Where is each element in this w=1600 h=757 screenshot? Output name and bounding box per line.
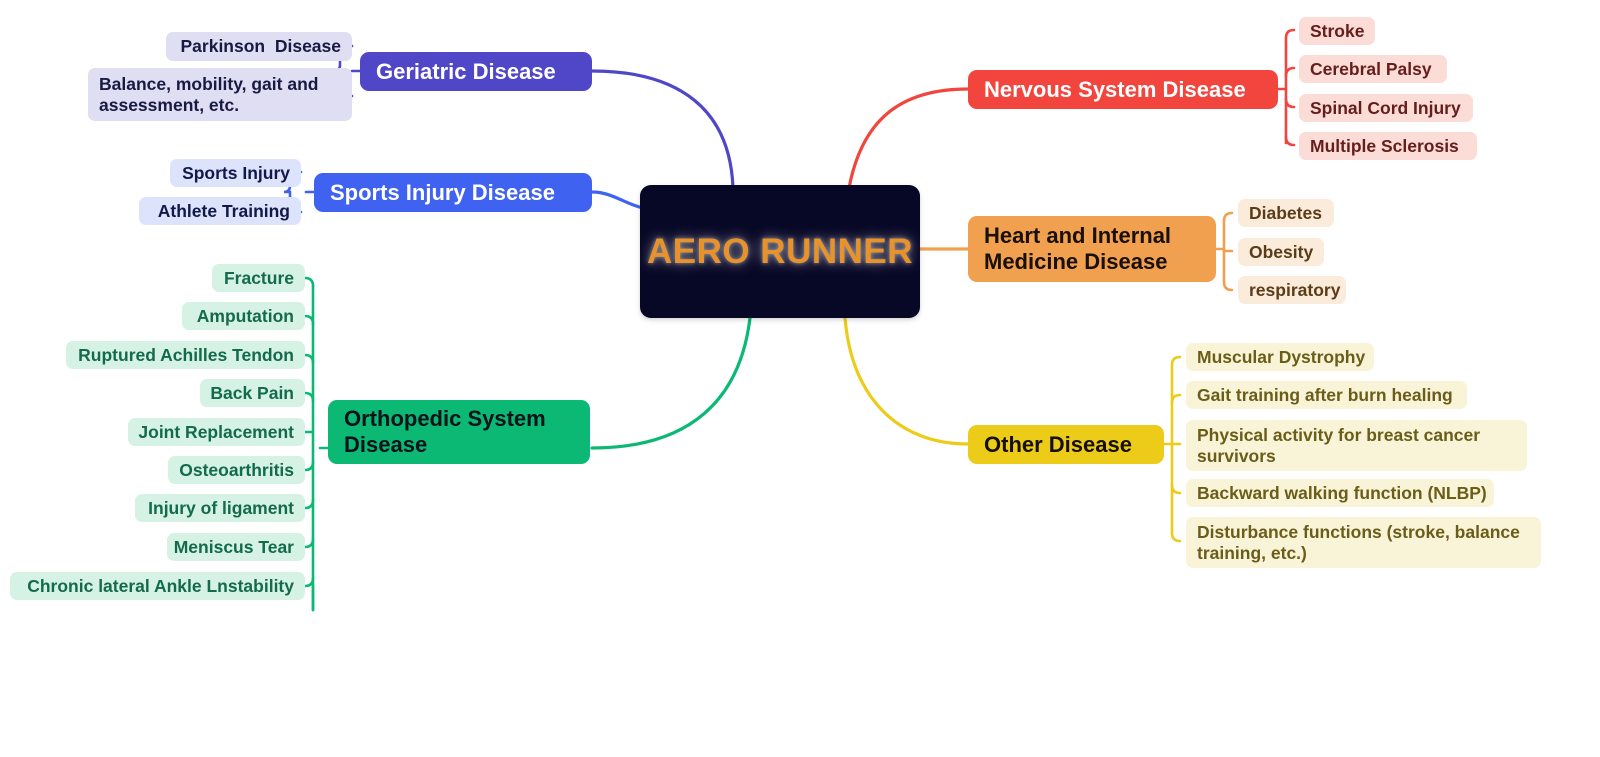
- leaf-label: Back Pain: [210, 383, 294, 404]
- leaf-label: Chronic lateral Ankle Lnstability: [27, 576, 294, 597]
- leaf-injury-of-ligament[interactable]: Injury of ligament: [135, 494, 305, 522]
- leaf-label: Muscular Dystrophy: [1197, 347, 1365, 368]
- branch-nervous-system[interactable]: Nervous System Disease: [968, 70, 1278, 109]
- leaf-label: Injury of ligament: [148, 498, 294, 519]
- branch-sports-injury[interactable]: Sports Injury Disease: [314, 173, 592, 212]
- leaf-label: Amputation: [197, 306, 294, 327]
- leaf-label: Athlete Training: [158, 201, 290, 222]
- branch-other-disease[interactable]: Other Disease: [968, 425, 1164, 464]
- branch-nervous-system-label: Nervous System Disease: [984, 77, 1246, 103]
- leaf-label: Cerebral Palsy: [1310, 59, 1432, 80]
- leaf-fracture[interactable]: Fracture: [212, 264, 305, 292]
- mindmap-canvas: AERO RUNNER Geriatric Disease Parkinson …: [0, 0, 1600, 757]
- trunk-geriatric: [592, 71, 733, 188]
- leaf-label: Sports Injury: [182, 163, 290, 184]
- trunk-orthopedic: [592, 318, 750, 448]
- leaf-disturbance-functions[interactable]: Disturbance functions (stroke, balance t…: [1186, 517, 1541, 568]
- leaf-respiratory[interactable]: respiratory: [1238, 276, 1346, 304]
- branch-sports-injury-label: Sports Injury Disease: [330, 180, 555, 206]
- leaf-label: Osteoarthritis: [179, 460, 294, 481]
- branch-heart-internal-medicine[interactable]: Heart and Internal Medicine Disease: [968, 216, 1216, 282]
- leaf-label: Spinal Cord Injury: [1310, 98, 1461, 119]
- leaf-label: Joint Replacement: [138, 422, 294, 443]
- leaf-label: Balance, mobility, gait and assessment, …: [99, 74, 318, 116]
- bracket-heart: [1216, 213, 1232, 290]
- leaf-sports-injury[interactable]: Sports Injury: [170, 159, 301, 187]
- branch-heart-internal-medicine-label: Heart and Internal Medicine Disease: [984, 223, 1171, 274]
- leaf-label: Gait training after burn healing: [1197, 385, 1453, 406]
- leaf-label: Multiple Sclerosis: [1310, 136, 1459, 157]
- branch-orthopedic[interactable]: Orthopedic System Disease: [328, 400, 590, 464]
- leaf-joint-replacement[interactable]: Joint Replacement: [128, 418, 305, 446]
- leaf-obesity[interactable]: Obesity: [1238, 238, 1324, 266]
- leaf-label: Parkinson Disease: [181, 36, 342, 57]
- leaf-athlete-training[interactable]: Athlete Training: [139, 197, 301, 225]
- leaf-backward-walking-function[interactable]: Backward walking function (NLBP): [1186, 479, 1494, 507]
- branch-geriatric[interactable]: Geriatric Disease: [360, 52, 592, 91]
- trunk-other: [845, 318, 968, 444]
- leaf-spinal-cord-injury[interactable]: Spinal Cord Injury: [1299, 94, 1473, 122]
- bracket-nervous: [1278, 30, 1294, 145]
- leaf-balance-mobility-gait[interactable]: Balance, mobility, gait and assessment, …: [88, 68, 352, 121]
- branch-geriatric-label: Geriatric Disease: [376, 59, 556, 85]
- leaf-label: Meniscus Tear: [174, 537, 294, 558]
- leaf-label: Ruptured Achilles Tendon: [78, 345, 294, 366]
- central-node[interactable]: AERO RUNNER: [640, 185, 920, 318]
- leaf-meniscus-tear[interactable]: Meniscus Tear: [167, 533, 305, 561]
- leaf-muscular-dystrophy[interactable]: Muscular Dystrophy: [1186, 343, 1374, 371]
- trunk-nervous: [849, 89, 968, 188]
- central-node-label: AERO RUNNER: [647, 232, 913, 272]
- leaf-diabetes[interactable]: Diabetes: [1238, 199, 1334, 227]
- branch-other-disease-label: Other Disease: [984, 432, 1132, 458]
- leaf-label: Backward walking function (NLBP): [1197, 483, 1487, 504]
- leaf-ruptured-achilles-tendon[interactable]: Ruptured Achilles Tendon: [66, 341, 305, 369]
- bracket-orthopedic: [305, 278, 328, 610]
- leaf-back-pain[interactable]: Back Pain: [200, 379, 305, 407]
- leaf-parkinson-disease[interactable]: Parkinson Disease: [166, 32, 352, 61]
- bracket-other: [1164, 357, 1180, 541]
- leaf-gait-training-after-burn-healing[interactable]: Gait training after burn healing: [1186, 381, 1467, 409]
- leaf-chronic-lateral-ankle-instability[interactable]: Chronic lateral Ankle Lnstability: [10, 572, 305, 600]
- leaf-label: Obesity: [1249, 242, 1313, 263]
- leaf-amputation[interactable]: Amputation: [182, 302, 305, 330]
- trunk-sports: [592, 192, 643, 208]
- leaf-label: Physical activity for breast cancer surv…: [1197, 425, 1480, 467]
- leaf-multiple-sclerosis[interactable]: Multiple Sclerosis: [1299, 132, 1477, 160]
- leaf-label: Diabetes: [1249, 203, 1322, 224]
- leaf-osteoarthritis[interactable]: Osteoarthritis: [168, 456, 305, 484]
- leaf-stroke[interactable]: Stroke: [1299, 17, 1375, 45]
- leaf-label: Disturbance functions (stroke, balance t…: [1197, 522, 1520, 564]
- branch-orthopedic-label: Orthopedic System Disease: [344, 406, 546, 457]
- leaf-label: Fracture: [224, 268, 294, 289]
- leaf-label: Stroke: [1310, 21, 1364, 42]
- leaf-label: respiratory: [1249, 280, 1340, 301]
- leaf-physical-activity-breast-cancer[interactable]: Physical activity for breast cancer surv…: [1186, 420, 1527, 471]
- leaf-cerebral-palsy[interactable]: Cerebral Palsy: [1299, 55, 1447, 83]
